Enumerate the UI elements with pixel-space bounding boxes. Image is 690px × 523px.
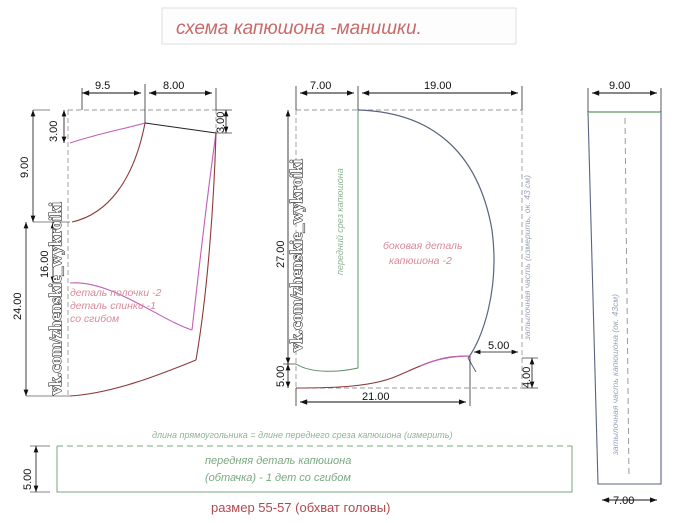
back-part-curve <box>358 110 494 358</box>
left-dim-top: 9.5 8.00 <box>82 80 216 123</box>
dim-left-24: 24.00 <box>12 292 24 320</box>
dim-left-9-5: 9.5 <box>95 80 110 92</box>
pattern-svg: схема капюшона -манишки. <box>0 0 690 523</box>
right-dim-7: 7.00 <box>602 495 657 507</box>
bottom-note: длина прямоугольника = длине переднего с… <box>152 430 452 440</box>
left-dim-3b: 3.00 <box>215 110 232 133</box>
bottom-strip-group: длина прямоугольника = длине переднего с… <box>22 430 572 492</box>
neckline-back-arc <box>72 123 145 222</box>
left-label-line-3: со сгибом <box>70 313 119 325</box>
dim-mid-7: 7.00 <box>310 80 331 92</box>
mid-label-line-1: боковая деталь <box>383 240 462 252</box>
watermark-left: vk.com/zhenskie_wykroiki <box>46 202 65 395</box>
strip-label-line-2: (обтачка) - 1 дет со сгибом <box>205 472 351 484</box>
right-piece-group: 9.00 7.00 затылочная часть капюшона (ок.… <box>588 80 661 507</box>
shoulder-line <box>145 123 216 133</box>
dim-left-3-right: 3.00 <box>215 112 227 133</box>
right-piece-outline <box>588 112 661 484</box>
mid-hem-curve <box>296 356 470 388</box>
pattern-diagram-canvas: схема капюшона -манишки. <box>0 0 690 523</box>
middle-piece-group: 7.00 19.00 27.00 5.00 21.00 <box>275 80 538 406</box>
back-part-label: затылочная часть (измерить, ок. 43 см) <box>522 175 532 341</box>
dim-mid-5-right: 5.00 <box>488 340 509 352</box>
strip-outline <box>57 446 572 492</box>
dim-mid-5-left: 5.00 <box>275 366 287 387</box>
dim-right-9: 9.00 <box>609 80 630 92</box>
mid-dim-5-left: 5.00 <box>275 364 296 388</box>
strip-dim-5: 5.00 <box>22 446 50 492</box>
front-edge-label: передний срез капюшона <box>335 168 345 275</box>
right-seam-darkred <box>196 133 216 360</box>
hem-arc-darkred <box>70 360 196 396</box>
dim-strip-5: 5.00 <box>22 469 34 490</box>
left-label-line-1: деталь полочки -2 <box>70 287 162 299</box>
mid-dim-top: 7.00 19.00 <box>296 80 522 110</box>
mid-dim-5-right: 5.00 <box>474 340 518 352</box>
dim-mid-19: 19.00 <box>424 80 452 92</box>
mid-dim-4: 4.00 <box>521 358 538 388</box>
right-piece-label: затылочная часть капюшона (ок. 43см) <box>610 294 620 456</box>
strip-label-line-1: передняя деталь капюшона <box>205 455 351 467</box>
right-piece-fold-dashed <box>625 118 629 478</box>
left-label-line-2: деталь спинки -1 <box>70 300 156 312</box>
back-curve-tail <box>468 358 476 372</box>
left-dim-3a: 3.00 <box>48 110 64 143</box>
dim-mid-21: 21.00 <box>362 391 390 403</box>
mid-label-line-2: капюшона -2 <box>389 255 452 267</box>
dim-right-7: 7.00 <box>613 495 634 507</box>
dim-mid-27: 27.00 <box>275 240 287 268</box>
dim-mid-4: 4.00 <box>521 367 533 388</box>
front-edge-bottom-curve <box>296 364 358 371</box>
left-piece-group: 9.5 8.00 3.00 9.00 16.00 <box>12 80 232 396</box>
watermark-middle: vk.com/zhenskie_wykroiki <box>287 159 306 352</box>
footer-size-text: размер 55-57 (обхват головы) <box>211 500 390 515</box>
title-group: схема капюшона -манишки. <box>162 8 516 44</box>
neckline-front-arc <box>70 123 145 143</box>
dim-left-3-top: 3.00 <box>48 121 60 142</box>
diagram-title: схема капюшона -манишки. <box>176 18 422 39</box>
dim-left-9: 9.00 <box>19 157 31 178</box>
right-dim-9: 9.00 <box>588 80 661 112</box>
dim-left-8: 8.00 <box>163 80 184 92</box>
